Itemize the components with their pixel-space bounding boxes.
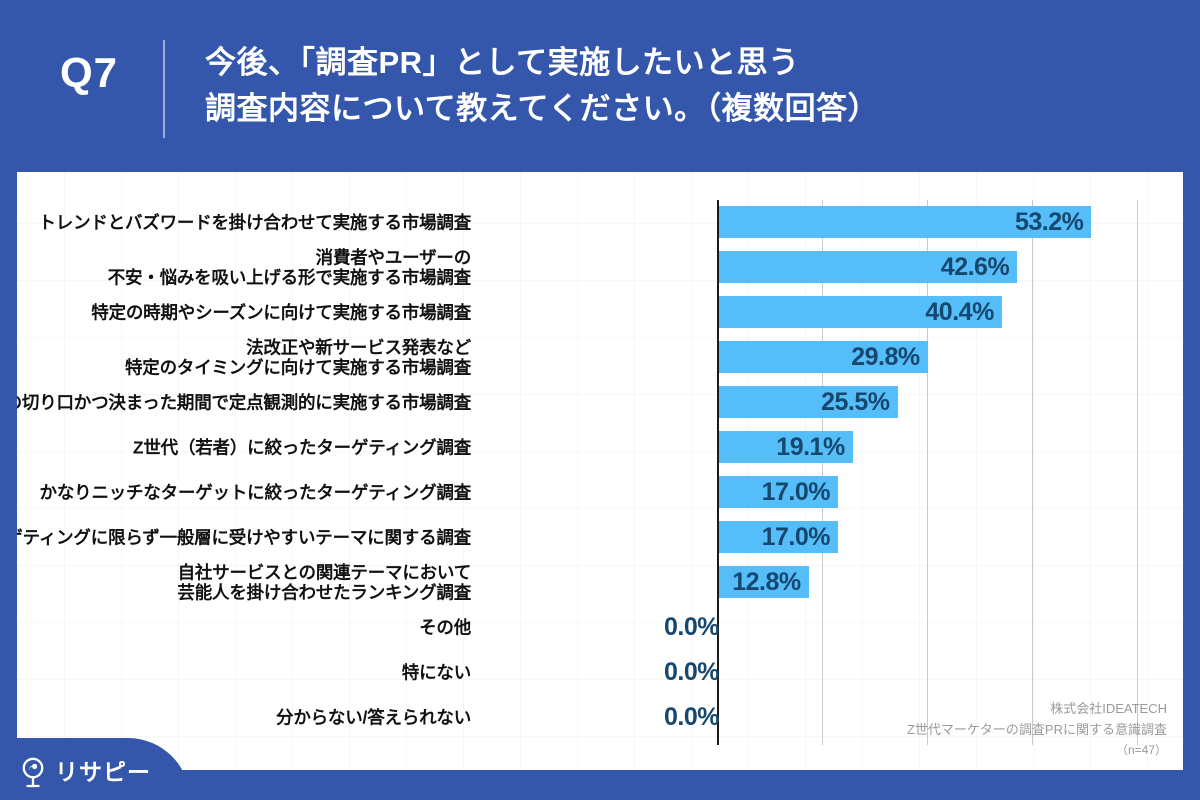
bar-value-label: 19.1% [776, 435, 852, 460]
bar: 19.1% [719, 431, 853, 463]
chart-row: かなりニッチなターゲットに絞ったターゲティング調査17.0% [17, 470, 1183, 515]
chart-row: 法改正や新サービス発表など 特定のタイミングに向けて実施する市場調査29.8% [17, 335, 1183, 380]
question-number: Q7 [60, 52, 155, 94]
magnifier-icon [18, 756, 48, 788]
brand-logo: リサピー [18, 756, 151, 788]
chart-panel: トレンドとバズワードを掛け合わせて実施する市場調査53.2%消費者やユーザーの … [17, 172, 1183, 770]
chart-row: Z世代（若者）に絞ったターゲティング調査19.1% [17, 425, 1183, 470]
bar-value-label: 17.0% [762, 525, 838, 550]
bar-value-label: 53.2% [1015, 210, 1091, 235]
bar-wrapper: 42.6% [719, 251, 1017, 283]
bar: 40.4% [719, 296, 1002, 328]
brand-logo-text: リサピー [55, 761, 151, 784]
header-divider [163, 40, 165, 138]
credit-company: 株式会社IDEATECH [907, 699, 1167, 720]
chart-row: トレンドとバズワードを掛け合わせて実施する市場調査53.2% [17, 200, 1183, 245]
bar: 29.8% [719, 341, 928, 373]
chart-row: 自社サービスとの関連テーマにおいて 芸能人を掛け合わせたランキング調査12.8% [17, 560, 1183, 605]
chart-row: その他0.0% [17, 605, 1183, 650]
bar-value-label: 0.0% [658, 615, 719, 640]
chart-row: 特にない0.0% [17, 650, 1183, 695]
bar-value-label: 42.6% [941, 255, 1017, 280]
chart-plot-area: トレンドとバズワードを掛け合わせて実施する市場調査53.2%消費者やユーザーの … [17, 172, 1183, 770]
bar: 25.5% [719, 386, 898, 418]
bar-value-label: 40.4% [925, 300, 1001, 325]
bar-value-label: 25.5% [821, 390, 897, 415]
bar-value-label: 12.8% [732, 570, 808, 595]
bar: 17.0% [719, 521, 838, 553]
chart-row: 特定の切り口かつ決まった期間で定点観測的に実施する市場調査25.5% [17, 380, 1183, 425]
page-title: 今後、「調査PR」として実施したいと思う 調査内容について教えてください。（複数… [205, 40, 1165, 132]
bar-category-label: 自社サービスとの関連テーマにおいて 芸能人を掛け合わせたランキング調査 [17, 562, 483, 603]
bar-category-label: かなりニッチなターゲットに絞ったターゲティング調査 [17, 482, 483, 503]
chart-credits: 株式会社IDEATECH Z世代マーケターの調査PRに関する意識調査 （n=47… [907, 699, 1167, 760]
bar-value-label: 29.8% [851, 345, 927, 370]
page-title-line-1: 今後、「調査PR」として実施したいと思う [205, 40, 1165, 86]
bar-wrapper: 53.2% [719, 206, 1091, 238]
bar-wrapper: 19.1% [719, 431, 853, 463]
bar-category-label: Z世代（若者）に絞ったターゲティング調査 [17, 437, 483, 458]
bar-category-label: トレンドとバズワードを掛け合わせて実施する市場調査 [17, 212, 483, 233]
bar-category-label: 消費者やユーザーの 不安・悩みを吸い上げる形で実施する市場調査 [17, 247, 483, 288]
bar-value-label: 17.0% [762, 480, 838, 505]
credit-sample-size: （n=47） [907, 741, 1167, 760]
credit-survey-name: Z世代マーケターの調査PRに関する意識調査 [907, 720, 1167, 741]
bar-wrapper: 25.5% [719, 386, 898, 418]
bar: 12.8% [719, 566, 809, 598]
bar-wrapper: 40.4% [719, 296, 1002, 328]
bar-category-label: 特定の時期やシーズンに向けて実施する市場調査 [17, 302, 483, 323]
chart-bar-rows: トレンドとバズワードを掛け合わせて実施する市場調査53.2%消費者やユーザーの … [17, 200, 1183, 740]
bar-category-label: 特定の切り口かつ決まった期間で定点観測的に実施する市場調査 [17, 392, 483, 413]
bar: 42.6% [719, 251, 1017, 283]
chart-row: 消費者やユーザーの 不安・悩みを吸い上げる形で実施する市場調査42.6% [17, 245, 1183, 290]
slide-root: Q7 今後、「調査PR」として実施したいと思う 調査内容について教えてください。… [0, 0, 1200, 800]
chart-row: 特定の時期やシーズンに向けて実施する市場調査40.4% [17, 290, 1183, 335]
page-title-line-2: 調査内容について教えてください。（複数回答） [205, 86, 1165, 132]
slide-header: Q7 今後、「調査PR」として実施したいと思う 調査内容について教えてください。… [0, 0, 1200, 160]
bar-value-label: 0.0% [658, 660, 719, 685]
bar-category-label: ターゲティングに限らず一般層に受けやすいテーマに関する調査 [17, 527, 483, 548]
bar-value-label: 0.0% [658, 705, 719, 730]
bar-category-label: 分からない/答えられない [17, 707, 483, 728]
bar-wrapper: 12.8% [719, 566, 809, 598]
bar-category-label: 法改正や新サービス発表など 特定のタイミングに向けて実施する市場調査 [17, 337, 483, 378]
chart-row: ターゲティングに限らず一般層に受けやすいテーマに関する調査17.0% [17, 515, 1183, 560]
bar: 17.0% [719, 476, 838, 508]
bar-wrapper: 29.8% [719, 341, 928, 373]
bar: 53.2% [719, 206, 1091, 238]
bar-category-label: その他 [17, 617, 483, 638]
bar-wrapper: 17.0% [719, 521, 838, 553]
bar-wrapper: 17.0% [719, 476, 838, 508]
bar-category-label: 特にない [17, 662, 483, 683]
